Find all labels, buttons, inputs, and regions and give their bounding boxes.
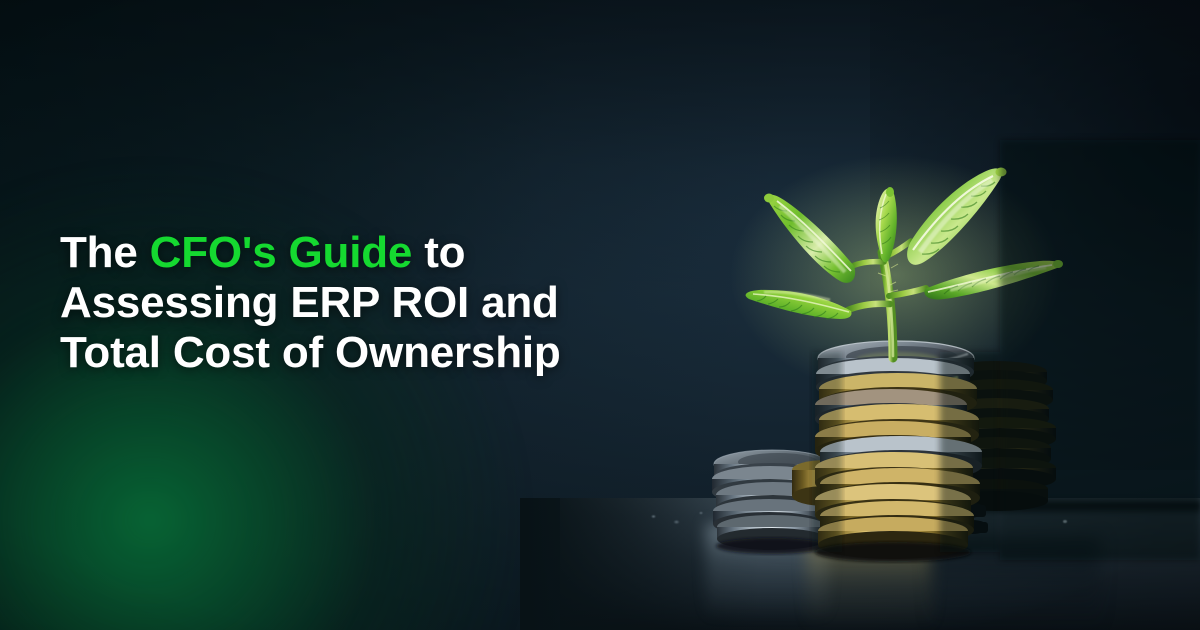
headline-line-1: The CFO's Guide to [60, 228, 620, 278]
headline-line-2: Assessing ERP ROI and [60, 278, 620, 328]
headline-line-3: Total Cost of Ownership [60, 328, 620, 378]
headline-accent-cfos-guide: CFO's Guide [150, 228, 413, 277]
headline-text-to: to [412, 228, 465, 277]
headline-text-the: The [60, 228, 150, 277]
banner-root: The CFO's Guide to Assessing ERP ROI and… [0, 0, 1200, 630]
banner-headline: The CFO's Guide to Assessing ERP ROI and… [60, 228, 620, 378]
